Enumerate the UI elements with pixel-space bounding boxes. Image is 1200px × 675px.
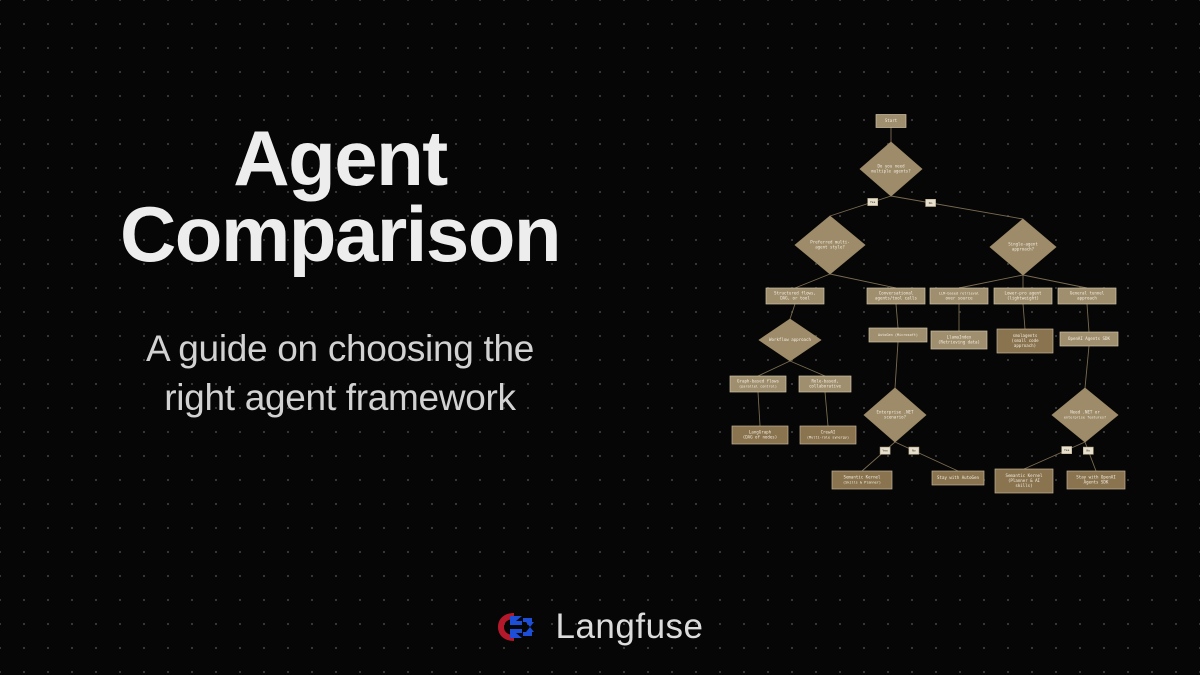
flow-node[interactable]: Single-agentapproach? (990, 219, 1056, 275)
node-label: (Multi-role synergy) (807, 436, 849, 440)
flow-edge (1085, 442, 1096, 471)
edge-label-text: No (929, 201, 933, 205)
flow-edge (891, 196, 1023, 219)
node-label: multiple agents? (871, 169, 911, 174)
flow-node[interactable]: Do you needmultiple agents? (860, 142, 922, 196)
page-title: Agent Comparison (40, 120, 640, 273)
node-label: (Skills & Planner) (843, 481, 881, 485)
flow-edge (1023, 275, 1087, 288)
flow-edge (790, 304, 795, 319)
flow-node[interactable]: Enterprise .NETscenario? (864, 388, 926, 442)
flow-edge (758, 361, 790, 376)
node-label: (lightweight) (1007, 296, 1039, 301)
flowchart-svg: StartDo you needmultiple agents?Preferre… (670, 95, 1190, 515)
flow-edge (1023, 304, 1025, 329)
node-label: agents/tool calls (875, 296, 917, 301)
edge-label-text: Yes (870, 200, 876, 204)
node-label: scenario? (884, 415, 907, 420)
node-label: DAG, or tool (780, 296, 810, 301)
flow-edge (1087, 304, 1089, 332)
flow-edge (825, 392, 828, 426)
node-label: CrewAI (821, 429, 836, 434)
flow-edge (830, 196, 891, 216)
node-label: Agents SDK (1084, 480, 1109, 485)
node-label: OpenAI Agents SDK (1068, 336, 1110, 341)
flow-edge (830, 274, 896, 288)
flow-node[interactable]: Preferred multi-agent style? (795, 216, 865, 274)
brand-name: Langfuse (555, 607, 703, 647)
flow-node[interactable]: Lower-pro agent(lightweight) (994, 288, 1052, 304)
flow-node[interactable]: Semantic Kernel(Planner & AIskills) (995, 469, 1053, 493)
node-label: skills) (1015, 483, 1032, 488)
flow-node[interactable]: Structured flows,DAG, or tool (766, 288, 824, 304)
flow-edge (790, 361, 825, 376)
node-label: (parallel control) (739, 385, 777, 389)
brand-footer: Langfuse (0, 607, 1200, 647)
flow-node[interactable]: AutoGen (Microsoft) (869, 328, 927, 342)
flow-node[interactable]: LLM-based retrievalover source (930, 288, 988, 304)
node-label: approach) (1014, 343, 1036, 348)
flow-edge (862, 442, 895, 471)
flow-node[interactable]: LangGraph(DAG of nodes) (732, 426, 788, 444)
langfuse-logo-icon (496, 610, 538, 644)
decision-flowchart: StartDo you needmultiple agents?Preferre… (670, 95, 1190, 515)
node-label: (Retrieving data) (938, 340, 980, 345)
node-label: approach? (1012, 247, 1035, 252)
flow-node[interactable]: CrewAI(Multi-role synergy) (800, 426, 856, 444)
flow-node[interactable]: OpenAI Agents SDK (1060, 332, 1118, 346)
flow-edge (896, 304, 898, 328)
flow-edge (1085, 346, 1089, 388)
flow-node[interactable]: smolagents(small codeapproach) (997, 329, 1053, 353)
flow-edge (959, 275, 1023, 288)
flow-edge (1024, 442, 1085, 469)
slide-canvas: Agent Comparison A guide on choosing the… (0, 0, 1200, 675)
page-subtitle: A guide on choosing the right agent fram… (40, 325, 640, 423)
node-label: Need .NET or (1070, 409, 1100, 414)
flow-node[interactable]: Stay with OpenAIAgents SDK (1067, 471, 1125, 489)
edge-label-text: Yes (882, 449, 888, 453)
node-label: (DAG of nodes) (743, 435, 778, 440)
flow-edge (895, 342, 898, 388)
flow-edge (758, 392, 760, 426)
flow-node[interactable]: LlamaIndex(Retrieving data) (931, 331, 987, 349)
node-label: collaborative (809, 384, 842, 389)
flow-node[interactable]: Stay with AutoGen (932, 471, 984, 485)
flow-node[interactable]: Start (876, 115, 906, 128)
flow-node[interactable]: Conversationalagents/tool calls (867, 288, 925, 304)
node-label: Stay with AutoGen (937, 475, 979, 480)
node-label: Semantic Kernel (844, 474, 882, 479)
flow-node[interactable]: Workflow approach (759, 319, 821, 361)
flow-node[interactable]: Need .NET orenterprise features? (1052, 388, 1118, 442)
node-label: approach (1077, 296, 1097, 301)
hero-block: Agent Comparison A guide on choosing the… (0, 120, 680, 423)
node-label: Workflow approach (769, 337, 811, 342)
node-layer: StartDo you needmultiple agents?Preferre… (730, 115, 1125, 494)
edge-label-text: No (1086, 449, 1090, 453)
node-label: agent style? (815, 245, 845, 250)
edge-label-text: No (912, 449, 916, 453)
flow-node[interactable]: Semantic Kernel(Skills & Planner) (832, 471, 892, 489)
flow-node[interactable]: General tunnelapproach (1058, 288, 1116, 304)
flow-node[interactable]: Role-based,collaborative (799, 376, 851, 392)
node-label: enterprise features? (1064, 416, 1106, 420)
node-label: Graph-based flows (737, 378, 779, 383)
flow-edge (795, 274, 830, 288)
flow-node[interactable]: Graph-based flows(parallel control) (730, 376, 786, 392)
edge-label-text: Yes (1064, 448, 1070, 452)
node-label: over source (945, 296, 973, 301)
node-label: Start (885, 118, 898, 123)
node-label: AutoGen (Microsoft) (878, 333, 918, 337)
flow-edge (895, 442, 958, 471)
